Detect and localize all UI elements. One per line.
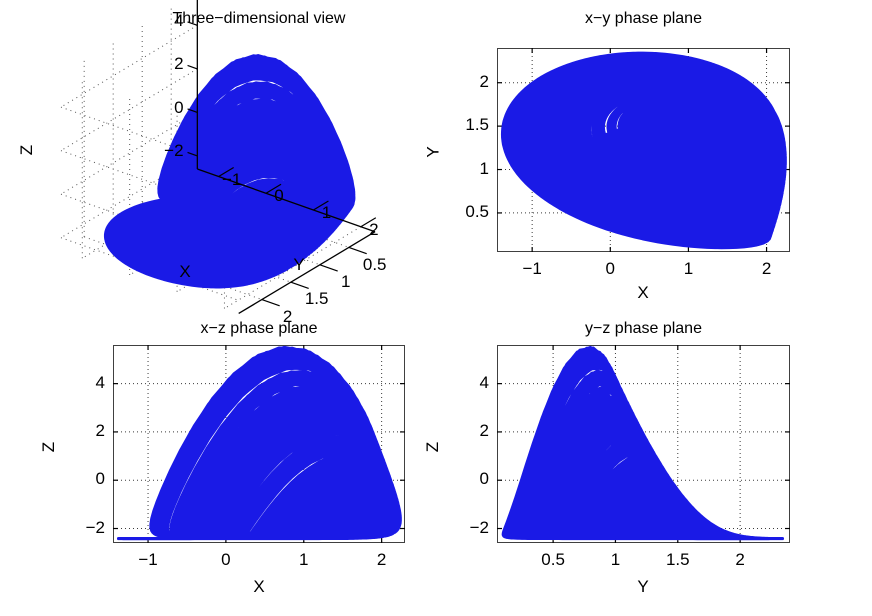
y-tick-label: 4 [63, 373, 105, 393]
x-tick-label: 1.5 [666, 550, 690, 570]
y-tick-label: 0 [447, 469, 489, 489]
x-tick-label: 1 [299, 550, 308, 570]
x-tick-label-3d: 1 [322, 203, 331, 223]
trajectory-curve [503, 53, 786, 248]
axis-label-y: Y [424, 146, 444, 157]
y-tick-label-3d: 2 [283, 307, 292, 327]
x-tick-label: −1 [522, 259, 541, 279]
axis-label-x: X [637, 283, 648, 303]
x-tick-label-3d: 0 [274, 186, 283, 206]
panel-title: y−z phase plane [497, 320, 790, 338]
y-tick-label: 1.5 [447, 115, 489, 135]
x-tick-label: 2 [762, 259, 771, 279]
axis-label-x: X [179, 262, 190, 282]
z-tick-label-3d: 2 [142, 54, 184, 74]
plot-area-xz [113, 345, 405, 543]
y-tick-label-3d: 1 [341, 272, 350, 292]
y-tick-label: 0 [63, 469, 105, 489]
y-tick-label: −2 [447, 518, 489, 538]
figure-canvas: Three−dimensional view Z X Y x−y phase p… [0, 0, 872, 616]
x-tick-label: 0 [221, 550, 230, 570]
y-tick-label: 4 [447, 373, 489, 393]
x-tick-label-3d: 2 [369, 220, 378, 240]
axis-label-z: Z [17, 145, 37, 155]
x-tick-label: 0 [606, 259, 615, 279]
y-tick-label: 2 [63, 421, 105, 441]
x-tick-label-3d: −1 [222, 170, 241, 190]
x-tick-label: −1 [138, 550, 157, 570]
y-tick-label: 2 [447, 421, 489, 441]
x-tick-label: 2 [377, 550, 386, 570]
plot-area-yz [497, 345, 790, 543]
axis-label-z: Z [39, 442, 59, 452]
axis-label-y: Y [293, 255, 304, 275]
axis-label-x: X [253, 577, 264, 597]
z-tick-label-3d: 4 [142, 11, 184, 31]
z-tick-label-3d: 0 [142, 98, 184, 118]
trajectory-curve [503, 347, 782, 538]
axis-label-z: Z [423, 442, 443, 452]
trajectory-curve [119, 347, 401, 538]
panel-title: x−y phase plane [497, 10, 790, 28]
axis-label-y: Y [637, 577, 648, 597]
x-tick-label: 2 [735, 550, 744, 570]
z-tick-label-3d: −2 [142, 141, 184, 161]
y-tick-label-3d: 1.5 [305, 289, 329, 309]
x-tick-label: 0.5 [541, 550, 565, 570]
y-tick-label: 0.5 [447, 202, 489, 222]
y-tick-label-3d: 0.5 [363, 255, 387, 275]
plot-area-xy [497, 48, 790, 252]
x-tick-label: 1 [684, 259, 693, 279]
x-tick-label: 1 [611, 550, 620, 570]
y-tick-label: 2 [447, 72, 489, 92]
panel-title: x−z phase plane [113, 320, 405, 338]
y-tick-label: −2 [63, 518, 105, 538]
y-tick-label: 1 [447, 159, 489, 179]
